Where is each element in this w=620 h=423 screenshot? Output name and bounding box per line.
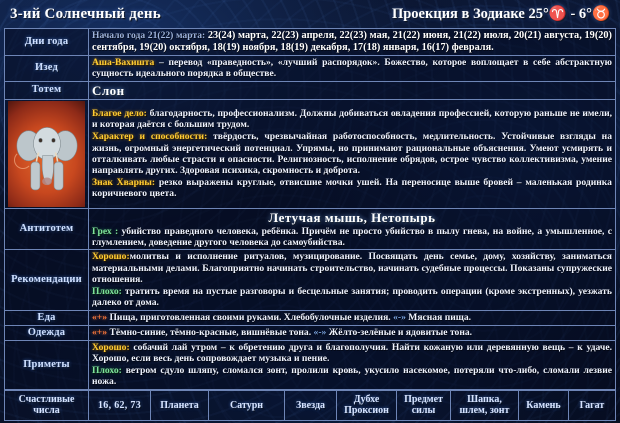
totem-block-1-keyword: Характер и способности: xyxy=(92,131,207,142)
solar-day-table-page: 3-ий Солнечный день Проекция в Зодиаке 2… xyxy=(0,0,620,423)
row-label-omens: Приметы xyxy=(5,340,89,389)
clothes-minus-symbol: «-» xyxy=(314,327,327,338)
power-object-value: Шапка, шлем, зонт xyxy=(451,390,519,420)
row-label-days: Дни года xyxy=(5,29,89,56)
recommendations-bad-keyword: Плохо: xyxy=(92,286,122,297)
row-value-antitotem: Летучая мышь, Нетопырь Грех : убийство п… xyxy=(89,208,616,250)
lucky-numbers-label: Счастливые числа xyxy=(5,390,89,420)
row-label-clothes: Одежда xyxy=(5,325,89,340)
days-intro: Начало года xyxy=(92,30,145,41)
row-label-antitotem: Антитотем xyxy=(5,208,89,250)
omens-bad-keyword: Плохо: xyxy=(92,365,122,376)
row-value-food: «+» Пища, приготовленная своими руками. … xyxy=(89,310,616,325)
ized-text: – перевод «праведность», «лучший распоря… xyxy=(92,57,612,79)
recommendations-good-text: молитвы и исполнение ритуалов, музициров… xyxy=(92,251,612,284)
antitotem-sin-line: Грех : убийство праведного человека, реб… xyxy=(92,226,612,248)
clothes-minus-text: Жёлто-зелёные и ядовитые тона. xyxy=(326,327,472,338)
row-value-totem-description: Благое дело: благодарность, профессионал… xyxy=(89,99,616,208)
omens-bad-text: ветром сдуло шляпу, сломался зонт, проли… xyxy=(92,365,612,387)
table-row-days: Дни года Начало года 21(22) марта: 23(24… xyxy=(5,29,616,56)
table-row-totem-details: Благое дело: благодарность, профессионал… xyxy=(5,99,616,208)
omens-good: Хорошо: собачий лай утром – к обретению … xyxy=(92,342,612,364)
recommendations-bad-text: тратить время на пустые разговоры и бесц… xyxy=(92,286,612,308)
attributes-table: Дни года Начало года 21(22) марта: 23(24… xyxy=(4,28,616,390)
omens-bad: Плохо: ветром сдуло шляпу, сломался зонт… xyxy=(92,365,612,387)
omens-good-keyword: Хорошо: xyxy=(92,342,130,353)
row-value-recommendations: Хорошо:молитвы и исполнение ритуалов, му… xyxy=(89,250,616,310)
clothes-plus-text: Тёмно-синие, тёмно-красные, вишнёвые тон… xyxy=(107,327,311,338)
days-intro-date: 21(22) марта: xyxy=(148,30,205,41)
table-row-totem-name: Тотем Слон xyxy=(5,81,616,99)
totem-image-cell xyxy=(5,99,89,208)
totem-block-2: Знак Хварны: резко выражены круглые, отв… xyxy=(92,177,612,199)
totem-block-0-keyword: Благое дело: xyxy=(92,108,147,119)
recommendations-good: Хорошо:молитвы и исполнение ритуалов, му… xyxy=(92,251,612,285)
totem-block-2-keyword: Знак Хварны: xyxy=(92,177,155,188)
antitotem-name-line: Летучая мышь, Нетопырь xyxy=(92,210,612,225)
page-title: 3-ий Солнечный день xyxy=(10,6,161,23)
recommendations-bad: Плохо: тратить время на пустые разговоры… xyxy=(92,286,612,308)
table-row-omens: Приметы Хорошо: собачий лай утром – к об… xyxy=(5,340,616,389)
elephant-illustration xyxy=(8,101,85,207)
table-row-food: Еда «+» Пища, приготовленная своими рука… xyxy=(5,310,616,325)
zodiac-projection: Проекция в Зодиаке 25°♈ - 6°♉ xyxy=(392,5,610,23)
food-minus-text: Мясная пища. xyxy=(406,312,471,323)
food-plus-symbol: «+» xyxy=(92,312,107,323)
attributes-footer-table: Счастливые числа 16, 62, 73 Планета Сату… xyxy=(4,390,616,421)
row-label-totem: Тотем xyxy=(5,81,89,99)
power-object-label: Предмет силы xyxy=(397,390,451,420)
stone-label: Камень xyxy=(519,390,569,420)
table-row-antitotem: Антитотем Летучая мышь, Нетопырь Грех : … xyxy=(5,208,616,250)
clothes-plus-symbol: «+» xyxy=(92,327,107,338)
totem-block-2-text: резко выражены круглые, отвисшие мочки у… xyxy=(92,177,612,199)
table-row-recommendations: Рекомендации Хорошо:молитвы и исполнение… xyxy=(5,250,616,310)
stone-value: Гагат xyxy=(569,390,616,420)
lucky-numbers-value: 16, 62, 73 xyxy=(89,390,151,420)
totem-block-1: Характер и способности: твёрдость, чрезв… xyxy=(92,131,612,176)
star-label: Звезда xyxy=(285,390,337,420)
ized-keyword: Аша-Вахишта xyxy=(92,57,154,68)
table-row-ized: Изед Аша-Вахишта – перевод «праведность»… xyxy=(5,56,616,81)
antitotem-text: убийство праведного человека, ребёнка. П… xyxy=(92,226,612,248)
row-label-recommendations: Рекомендации xyxy=(5,250,89,310)
recommendations-good-keyword: Хорошо: xyxy=(92,251,130,262)
omens-good-text: собачий лай утром – к обретению друга и … xyxy=(92,342,612,364)
row-value-ized: Аша-Вахишта – перевод «праведность», «лу… xyxy=(89,56,616,81)
antitotem-keyword: Грех : xyxy=(92,226,118,237)
footer-row: Счастливые числа 16, 62, 73 Планета Сату… xyxy=(5,390,616,420)
row-value-clothes: «+» Тёмно-синие, тёмно-красные, вишнёвые… xyxy=(89,325,616,340)
planet-value: Сатурн xyxy=(209,390,285,420)
row-label-ized: Изед xyxy=(5,56,89,81)
totem-name: Слон xyxy=(92,83,125,98)
totem-block-0-text: благодарность, профессионализм. Должны д… xyxy=(92,108,612,130)
row-value-omens: Хорошо: собачий лай утром – к обретению … xyxy=(89,340,616,389)
row-label-food: Еда xyxy=(5,310,89,325)
table-row-clothes: Одежда «+» Тёмно-синие, тёмно-красные, в… xyxy=(5,325,616,340)
row-value-days: Начало года 21(22) марта: 23(24) марта, … xyxy=(89,29,616,56)
food-minus-symbol: «-» xyxy=(393,312,406,323)
page-header: 3-ий Солнечный день Проекция в Зодиаке 2… xyxy=(0,0,620,28)
antitotem-name: Летучая мышь, Нетопырь xyxy=(269,210,436,225)
planet-label: Планета xyxy=(151,390,209,420)
star-value: Дубхе Проксион xyxy=(337,390,397,420)
totem-block-0: Благое дело: благодарность, профессионал… xyxy=(92,108,612,130)
elephant-icon xyxy=(14,110,79,201)
row-value-totem-name: Слон xyxy=(89,81,616,99)
food-plus-text: Пища, приготовленная своими руками. Хлеб… xyxy=(107,312,391,323)
